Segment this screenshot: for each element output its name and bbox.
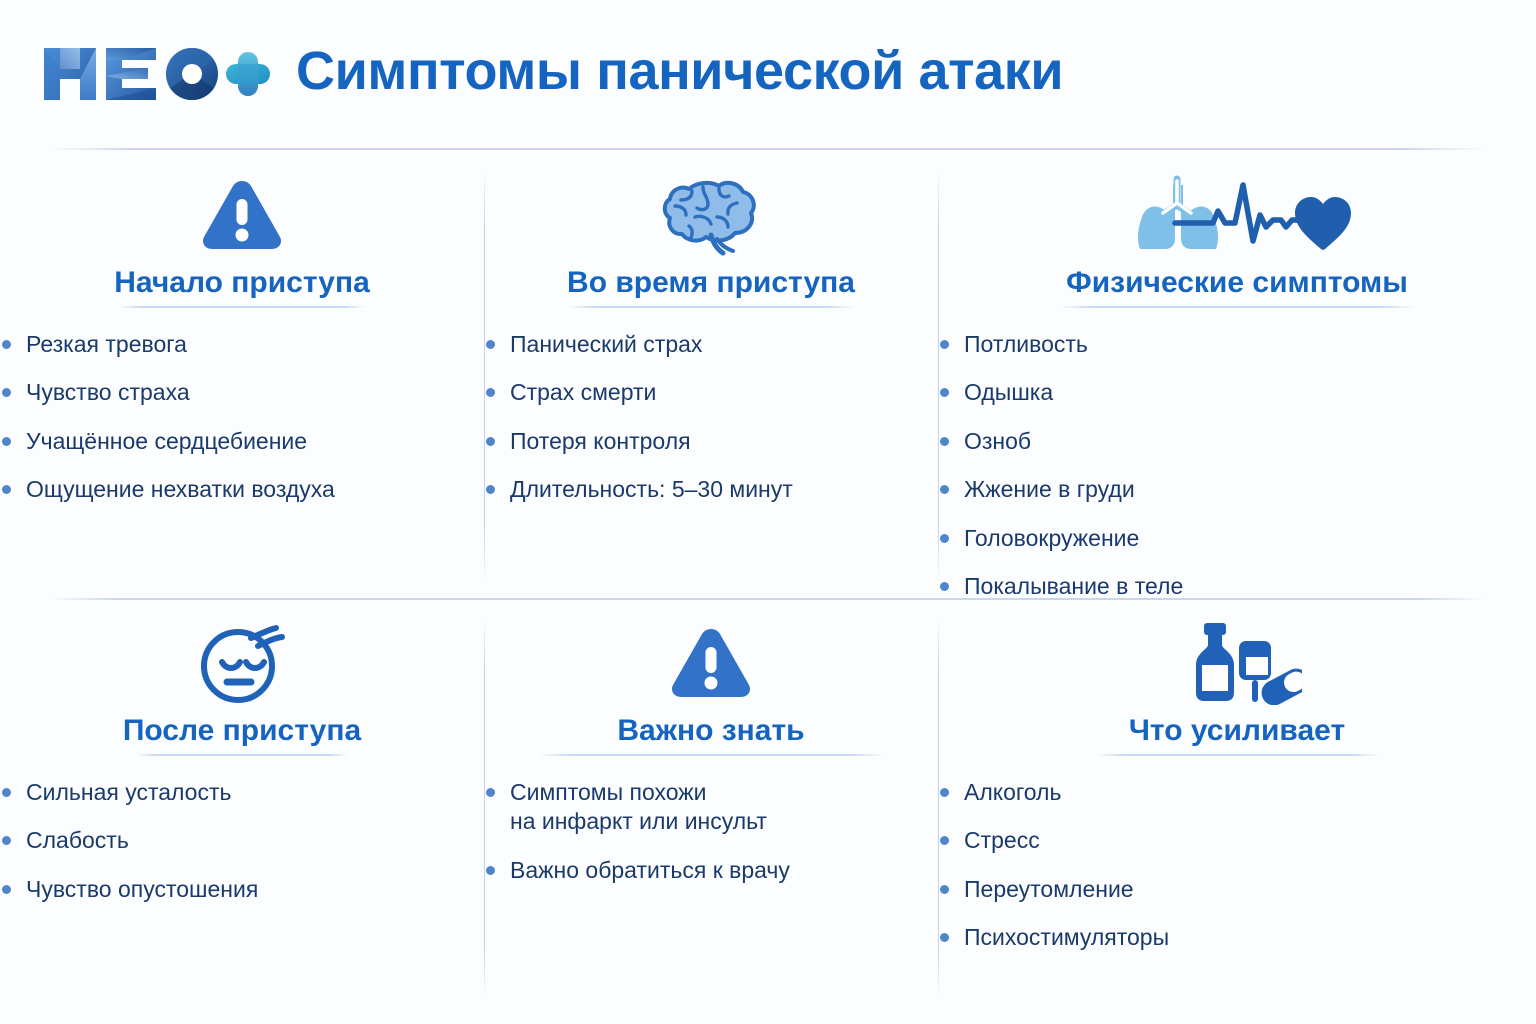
list-item: Ощущение нехватки воздуха <box>0 475 484 504</box>
card-during-underline <box>566 306 856 308</box>
card-physical-underline <box>1057 306 1417 308</box>
list-item: Длительность: 5–30 минут <box>484 475 938 504</box>
card-triggers-underline <box>1095 754 1380 756</box>
bottle-pills-icon <box>1172 621 1302 705</box>
list-item: Одышка <box>938 378 1536 407</box>
card-during-title: Во время приступа <box>484 266 938 299</box>
list-item: Головокружение <box>938 524 1536 553</box>
card-triggers-title: Что усиливает <box>938 714 1536 747</box>
card-triggers-list: Алкоголь Стресс Переутомление Психостиму… <box>938 778 1536 953</box>
card-physical-list: Потливость Одышка Озноб Жжение в груди Г… <box>938 330 1536 602</box>
lungs-ecg-heart-icon <box>1117 175 1357 255</box>
card-after: После приступа Сильная усталость Слабост… <box>0 600 484 1012</box>
cards-row-top: Начало приступа Резкая тревога Чувство с… <box>0 152 1536 598</box>
page-title: Симптомы панической атаки <box>296 44 1063 104</box>
list-item: Учащённое сердцебиение <box>0 427 484 456</box>
list-item: Потеря контроля <box>484 427 938 456</box>
list-item: Чувство страха <box>0 378 484 407</box>
tired-face-icon <box>196 620 288 706</box>
card-onset-list: Резкая тревога Чувство страха Учащённое … <box>0 330 484 505</box>
card-during-icon-wrap <box>484 170 938 260</box>
card-during-list: Панический страх Страх смерти Потеря кон… <box>484 330 938 505</box>
list-item: Слабость <box>0 826 484 855</box>
list-item: Алкоголь <box>938 778 1536 807</box>
card-physical-icon-wrap <box>938 170 1536 260</box>
list-item: Покалывание в теле <box>938 572 1536 601</box>
card-physical: Физические симптомы Потливость Одышка Оз… <box>938 152 1536 598</box>
list-item: Симптомы похожи на инфаркт или инсульт <box>484 778 938 837</box>
list-item: Потливость <box>938 330 1536 359</box>
page-header: Симптомы панической атаки <box>0 0 1536 148</box>
card-after-underline <box>135 754 350 756</box>
list-item: Важно обратиться к врачу <box>484 856 938 885</box>
neo-plus-logo <box>40 42 272 106</box>
list-item: Переутомление <box>938 875 1536 904</box>
card-physical-title: Физические симптомы <box>938 266 1536 299</box>
card-triggers: Что усиливает Алкоголь Стресс Переутомле… <box>938 600 1536 1012</box>
card-onset: Начало приступа Резкая тревога Чувство с… <box>0 152 484 598</box>
card-important-list: Симптомы похожи на инфаркт или инсульт В… <box>484 778 938 885</box>
list-item: Резкая тревога <box>0 330 484 359</box>
header-divider <box>45 148 1490 150</box>
cards-grid: Начало приступа Резкая тревога Чувство с… <box>0 152 1536 1012</box>
card-after-list: Сильная усталость Слабость Чувство опуст… <box>0 778 484 904</box>
card-after-title: После приступа <box>0 714 484 747</box>
brain-icon <box>659 173 763 257</box>
list-item: Жжение в груди <box>938 475 1536 504</box>
card-triggers-icon-wrap <box>938 618 1536 708</box>
cards-row-bottom: После приступа Сильная усталость Слабост… <box>0 600 1536 1012</box>
card-important-underline <box>536 754 886 756</box>
card-after-icon-wrap <box>0 618 484 708</box>
list-item: Чувство опустошения <box>0 875 484 904</box>
card-onset-underline <box>117 306 367 308</box>
list-item: Психостимуляторы <box>938 923 1536 952</box>
card-onset-icon-wrap <box>0 170 484 260</box>
card-important-icon-wrap <box>484 618 938 708</box>
list-item: Страх смерти <box>484 378 938 407</box>
list-item: Стресс <box>938 826 1536 855</box>
list-item: Панический страх <box>484 330 938 359</box>
warning-triangle-icon <box>199 177 285 253</box>
list-item: Сильная усталость <box>0 778 484 807</box>
card-important-title: Важно знать <box>484 714 938 747</box>
card-onset-title: Начало приступа <box>0 266 484 299</box>
list-item: Озноб <box>938 427 1536 456</box>
card-during: Во время приступа Панический страх Страх… <box>484 152 938 598</box>
card-important: Важно знать Симптомы похожи на инфаркт и… <box>484 600 938 1012</box>
warning-triangle-icon <box>668 625 754 701</box>
